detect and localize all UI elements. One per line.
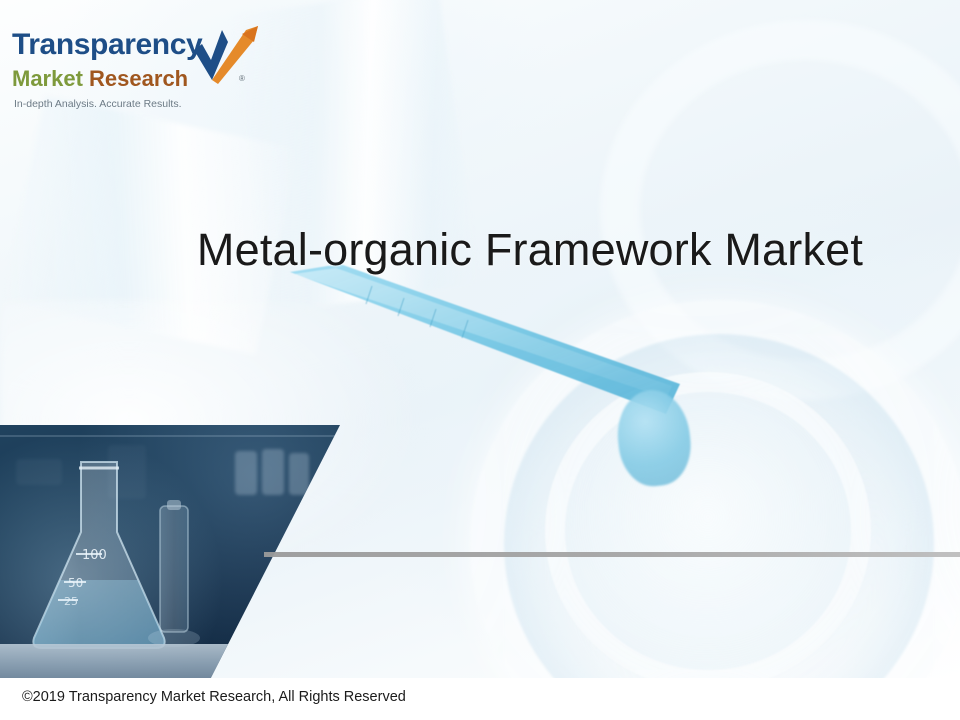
background-bottle-decor bbox=[235, 451, 257, 495]
divider bbox=[264, 552, 960, 557]
page-title: Metal-organic Framework Market bbox=[120, 224, 940, 276]
background-bottle-decor bbox=[289, 453, 309, 495]
footer: ©2019 Transparency Market Research, All … bbox=[0, 678, 960, 720]
logo-text-research: Research bbox=[89, 66, 188, 91]
svg-text:100: 100 bbox=[82, 548, 107, 563]
presentation-slide: 100 50 25 Transparency Market Research I… bbox=[0, 0, 960, 720]
logo-text-market: Market bbox=[12, 66, 89, 91]
svg-text:50: 50 bbox=[68, 576, 83, 590]
checkmark-arrow-logo-icon bbox=[188, 24, 260, 86]
shelf-line-decor bbox=[0, 435, 340, 437]
registered-trademark-symbol: ® bbox=[239, 74, 245, 83]
logo-tagline: In-depth Analysis. Accurate Results. bbox=[14, 98, 182, 110]
logo-text-transparency: Transparency bbox=[12, 28, 202, 62]
company-logo: Transparency Market Research In-depth An… bbox=[10, 28, 260, 120]
copyright-text: ©2019 Transparency Market Research, All … bbox=[22, 689, 406, 705]
background-bottle-decor bbox=[262, 449, 284, 495]
svg-text:25: 25 bbox=[64, 595, 78, 608]
graduated-cylinder-icon bbox=[140, 500, 214, 650]
logo-text-market-research: Market Research bbox=[12, 66, 188, 92]
